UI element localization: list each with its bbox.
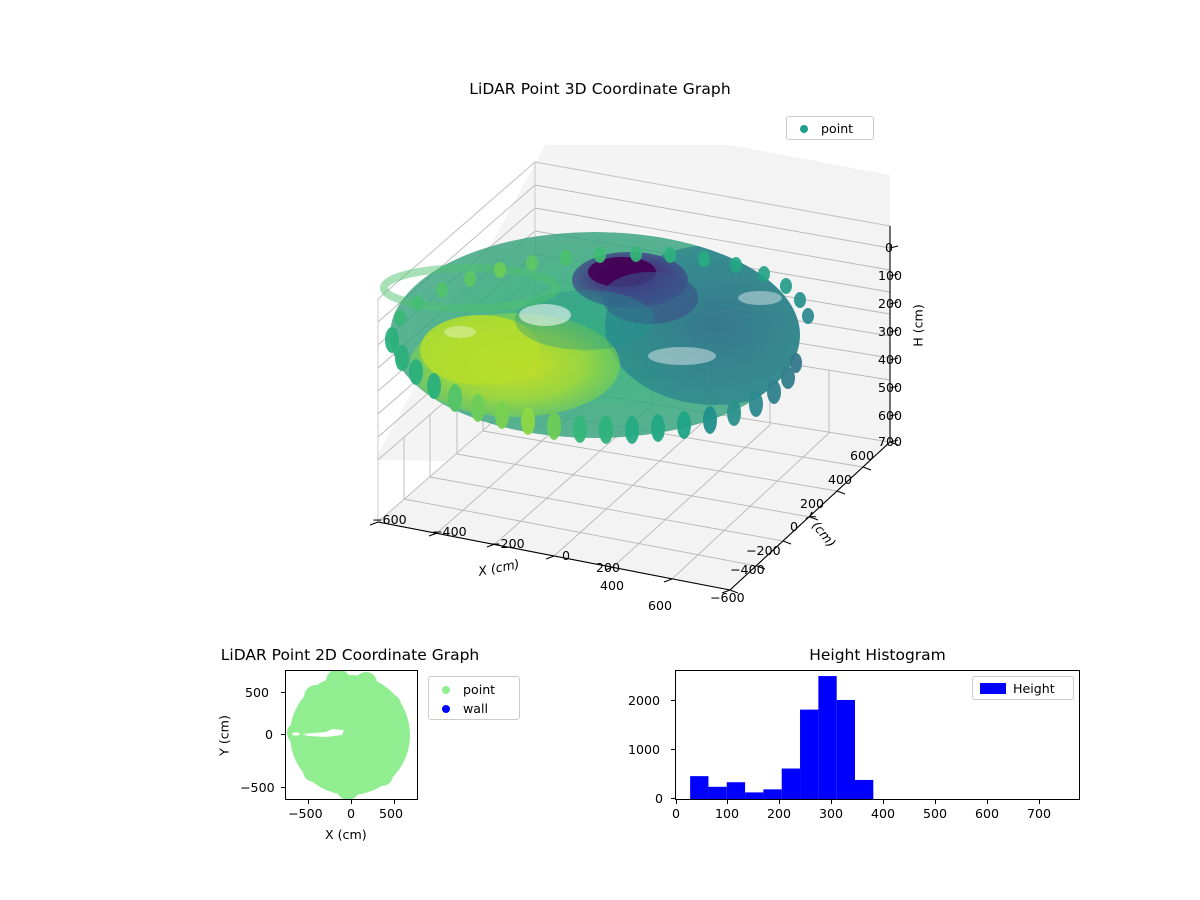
plot2d-xtick-mark-2: [394, 800, 395, 804]
plot3d-zlabel: H (cm): [911, 296, 926, 356]
plot3d-xtick-5: 400: [600, 578, 624, 593]
plot2d-xtick-mark-1: [351, 800, 352, 804]
plot3d-ztick-4: 400: [878, 352, 902, 367]
histogram-bars: [690, 676, 873, 799]
plot3d-xtick-4: 200: [596, 560, 620, 575]
plot2d-axes[interactable]: [285, 670, 418, 800]
plot2d-ytick-0: 500: [245, 685, 269, 700]
plot2d-ytick-mark-2: [281, 787, 285, 788]
histogram-xtick-7: 700: [1027, 806, 1051, 821]
histogram-bar: [708, 787, 726, 799]
plot2d-ytick-mark-0: [281, 692, 285, 693]
histogram-xtick-mark-5: [935, 800, 936, 804]
plot2d-xlabel: X (cm): [325, 827, 367, 842]
histogram-ytick-mark-2: [671, 700, 675, 701]
histogram-xtick-mark-3: [831, 800, 832, 804]
plot3d-ztick-7: 700: [878, 434, 902, 449]
histogram-xtick-mark-7: [1039, 800, 1040, 804]
plot3d-canvas: [330, 120, 950, 620]
plot3d-ztick-2: 200: [878, 296, 902, 311]
plot2d-ytick-2: −500: [240, 780, 275, 795]
histogram-bar: [763, 789, 781, 799]
histogram-xtick-mark-4: [883, 800, 884, 804]
plot2d-xtick-0: −500: [288, 806, 323, 821]
plot3d-title: LiDAR Point 3D Coordinate Graph: [0, 80, 1200, 98]
plot3d-ytick-1: −400: [730, 562, 765, 577]
histogram-ytick-mark-1: [671, 749, 675, 750]
plot3d-ztick-5: 500: [878, 380, 902, 395]
plot2d-legend[interactable]: point wall: [428, 676, 520, 720]
histogram-xtick-3: 300: [819, 806, 843, 821]
histogram-bar: [837, 700, 855, 799]
histogram-xtick-2: 200: [767, 806, 791, 821]
plot2d-xtick-mark-0: [308, 800, 309, 804]
plot2d-ytick-1: 0: [265, 727, 273, 742]
histogram-ytick-0: 0: [655, 791, 663, 806]
histogram-xtick-mark-2: [779, 800, 780, 804]
wall-marker-icon: [429, 705, 463, 713]
plot2d-xtick-2: 500: [379, 806, 403, 821]
plot2d-point-cloud: [287, 671, 410, 799]
legend-item-point: point: [429, 680, 519, 699]
histogram-bar: [818, 676, 836, 799]
histogram-bar: [690, 776, 708, 799]
histogram-xtick-mark-0: [676, 800, 677, 804]
histogram-bar: [800, 710, 818, 799]
plot3d-ytick-3: 0: [790, 519, 798, 534]
histogram-xtick-0: 0: [672, 806, 680, 821]
histogram-legend[interactable]: Height: [972, 676, 1074, 700]
plot3d-ytick-6: 600: [850, 448, 874, 463]
height-patch-icon: [973, 683, 1013, 694]
plot2d-canvas: [286, 671, 417, 799]
point-marker-icon: [429, 686, 463, 694]
plot2d-xtick-1: 0: [347, 806, 355, 821]
plot3d-xtick-1: −400: [432, 524, 467, 539]
histogram-bar: [855, 780, 873, 799]
matplotlib-figure: LiDAR Point 3D Coordinate Graph point: [0, 0, 1200, 900]
legend-label-height: Height: [1013, 681, 1055, 696]
plot3d-ztick-6: 600: [878, 408, 902, 423]
histogram-xtick-1: 100: [715, 806, 739, 821]
plot3d-ztick-3: 300: [878, 324, 902, 339]
histogram-xtick-5: 500: [923, 806, 947, 821]
plot3d-ytick-0: −600: [710, 590, 745, 605]
histogram-bar: [727, 782, 745, 799]
histogram-xtick-mark-6: [987, 800, 988, 804]
plot3d-axes[interactable]: [330, 120, 950, 620]
plot3d-xtick-2: −200: [490, 536, 525, 551]
histogram-xtick-mark-1: [727, 800, 728, 804]
plot3d-ytick-2: −200: [746, 543, 781, 558]
plot3d-ytick-5: 400: [828, 472, 852, 487]
plot3d-xtick-3: 0: [562, 548, 570, 563]
histogram-ytick-2: 2000: [628, 693, 660, 708]
histogram-xtick-6: 600: [975, 806, 999, 821]
legend-label-wall: wall: [463, 701, 488, 716]
plot3d-xtick-6: 600: [648, 598, 672, 613]
legend-item-height: Height: [973, 679, 1073, 698]
plot2d-ylabel: Y (cm): [217, 706, 232, 766]
plot2d-title: LiDAR Point 2D Coordinate Graph: [185, 646, 515, 664]
histogram-title: Height Histogram: [675, 646, 1080, 664]
histogram-bar: [782, 769, 800, 799]
plot3d-ztick-0: 0: [885, 240, 893, 255]
histogram-ytick-1: 1000: [628, 742, 660, 757]
plot3d-ztick-1: 100: [878, 268, 902, 283]
histogram-xtick-4: 400: [871, 806, 895, 821]
legend-item-wall: wall: [429, 699, 519, 718]
histogram-ytick-mark-0: [671, 798, 675, 799]
plot3d-xtick-0: −600: [372, 512, 407, 527]
histogram-bar: [745, 792, 763, 799]
legend-label-point: point: [463, 682, 495, 697]
plot2d-ytick-mark-1: [281, 734, 285, 735]
